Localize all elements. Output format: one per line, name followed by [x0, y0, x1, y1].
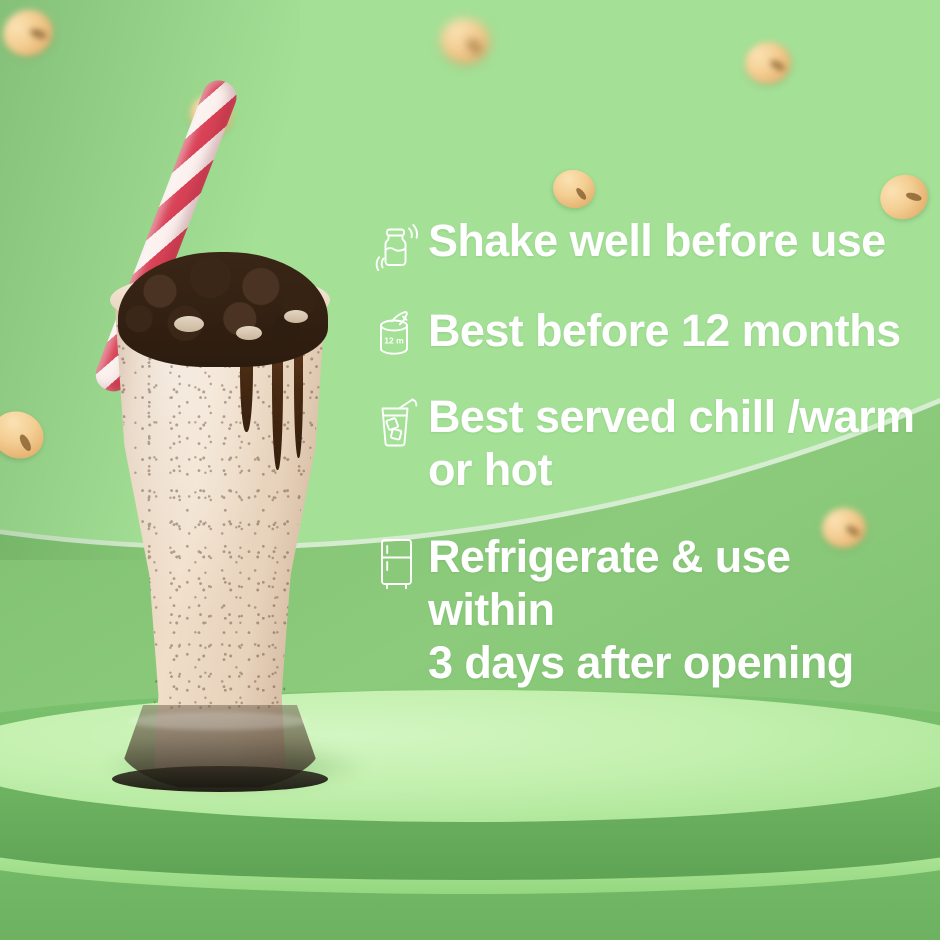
can-12-months-icon: 12 m [366, 304, 428, 362]
feature-label: Best before 12 months [428, 304, 901, 357]
promo-banner: Shake well before use 12 m Best before 1… [0, 0, 940, 940]
soybean-hilum [29, 27, 48, 40]
feature-label: Refrigerate & use within 3 days after op… [428, 530, 926, 689]
feature-label: Shake well before use [428, 214, 886, 267]
soybean-hilum [574, 186, 588, 201]
feature-list: Shake well before use 12 m Best before 1… [366, 214, 926, 713]
cream-swirl-2 [236, 326, 262, 340]
glass-base-rim [112, 766, 328, 792]
feature-item-shake: Shake well before use [366, 214, 926, 272]
soybean-hilum [18, 433, 33, 452]
glass-base-highlight [128, 712, 308, 730]
soybean-hilum [905, 191, 923, 203]
feature-item-refrigerate: Refrigerate & use within 3 days after op… [366, 530, 926, 689]
iced-glass-straw-icon [366, 390, 428, 450]
cream-swirl-3 [284, 310, 308, 323]
shake-bottle-icon [366, 214, 428, 272]
can-badge-text: 12 m [384, 336, 404, 346]
cream-swirl-1 [174, 316, 204, 332]
feature-label: Best served chill /warm or hot [428, 390, 914, 496]
feature-item-serving: Best served chill /warm or hot [366, 390, 926, 496]
milkshake-glass [88, 60, 358, 780]
soybean-hilum [465, 37, 483, 54]
soybean-hilum [769, 58, 786, 72]
feature-item-best-before: 12 m Best before 12 months [366, 304, 926, 362]
refrigerator-icon [366, 530, 428, 592]
